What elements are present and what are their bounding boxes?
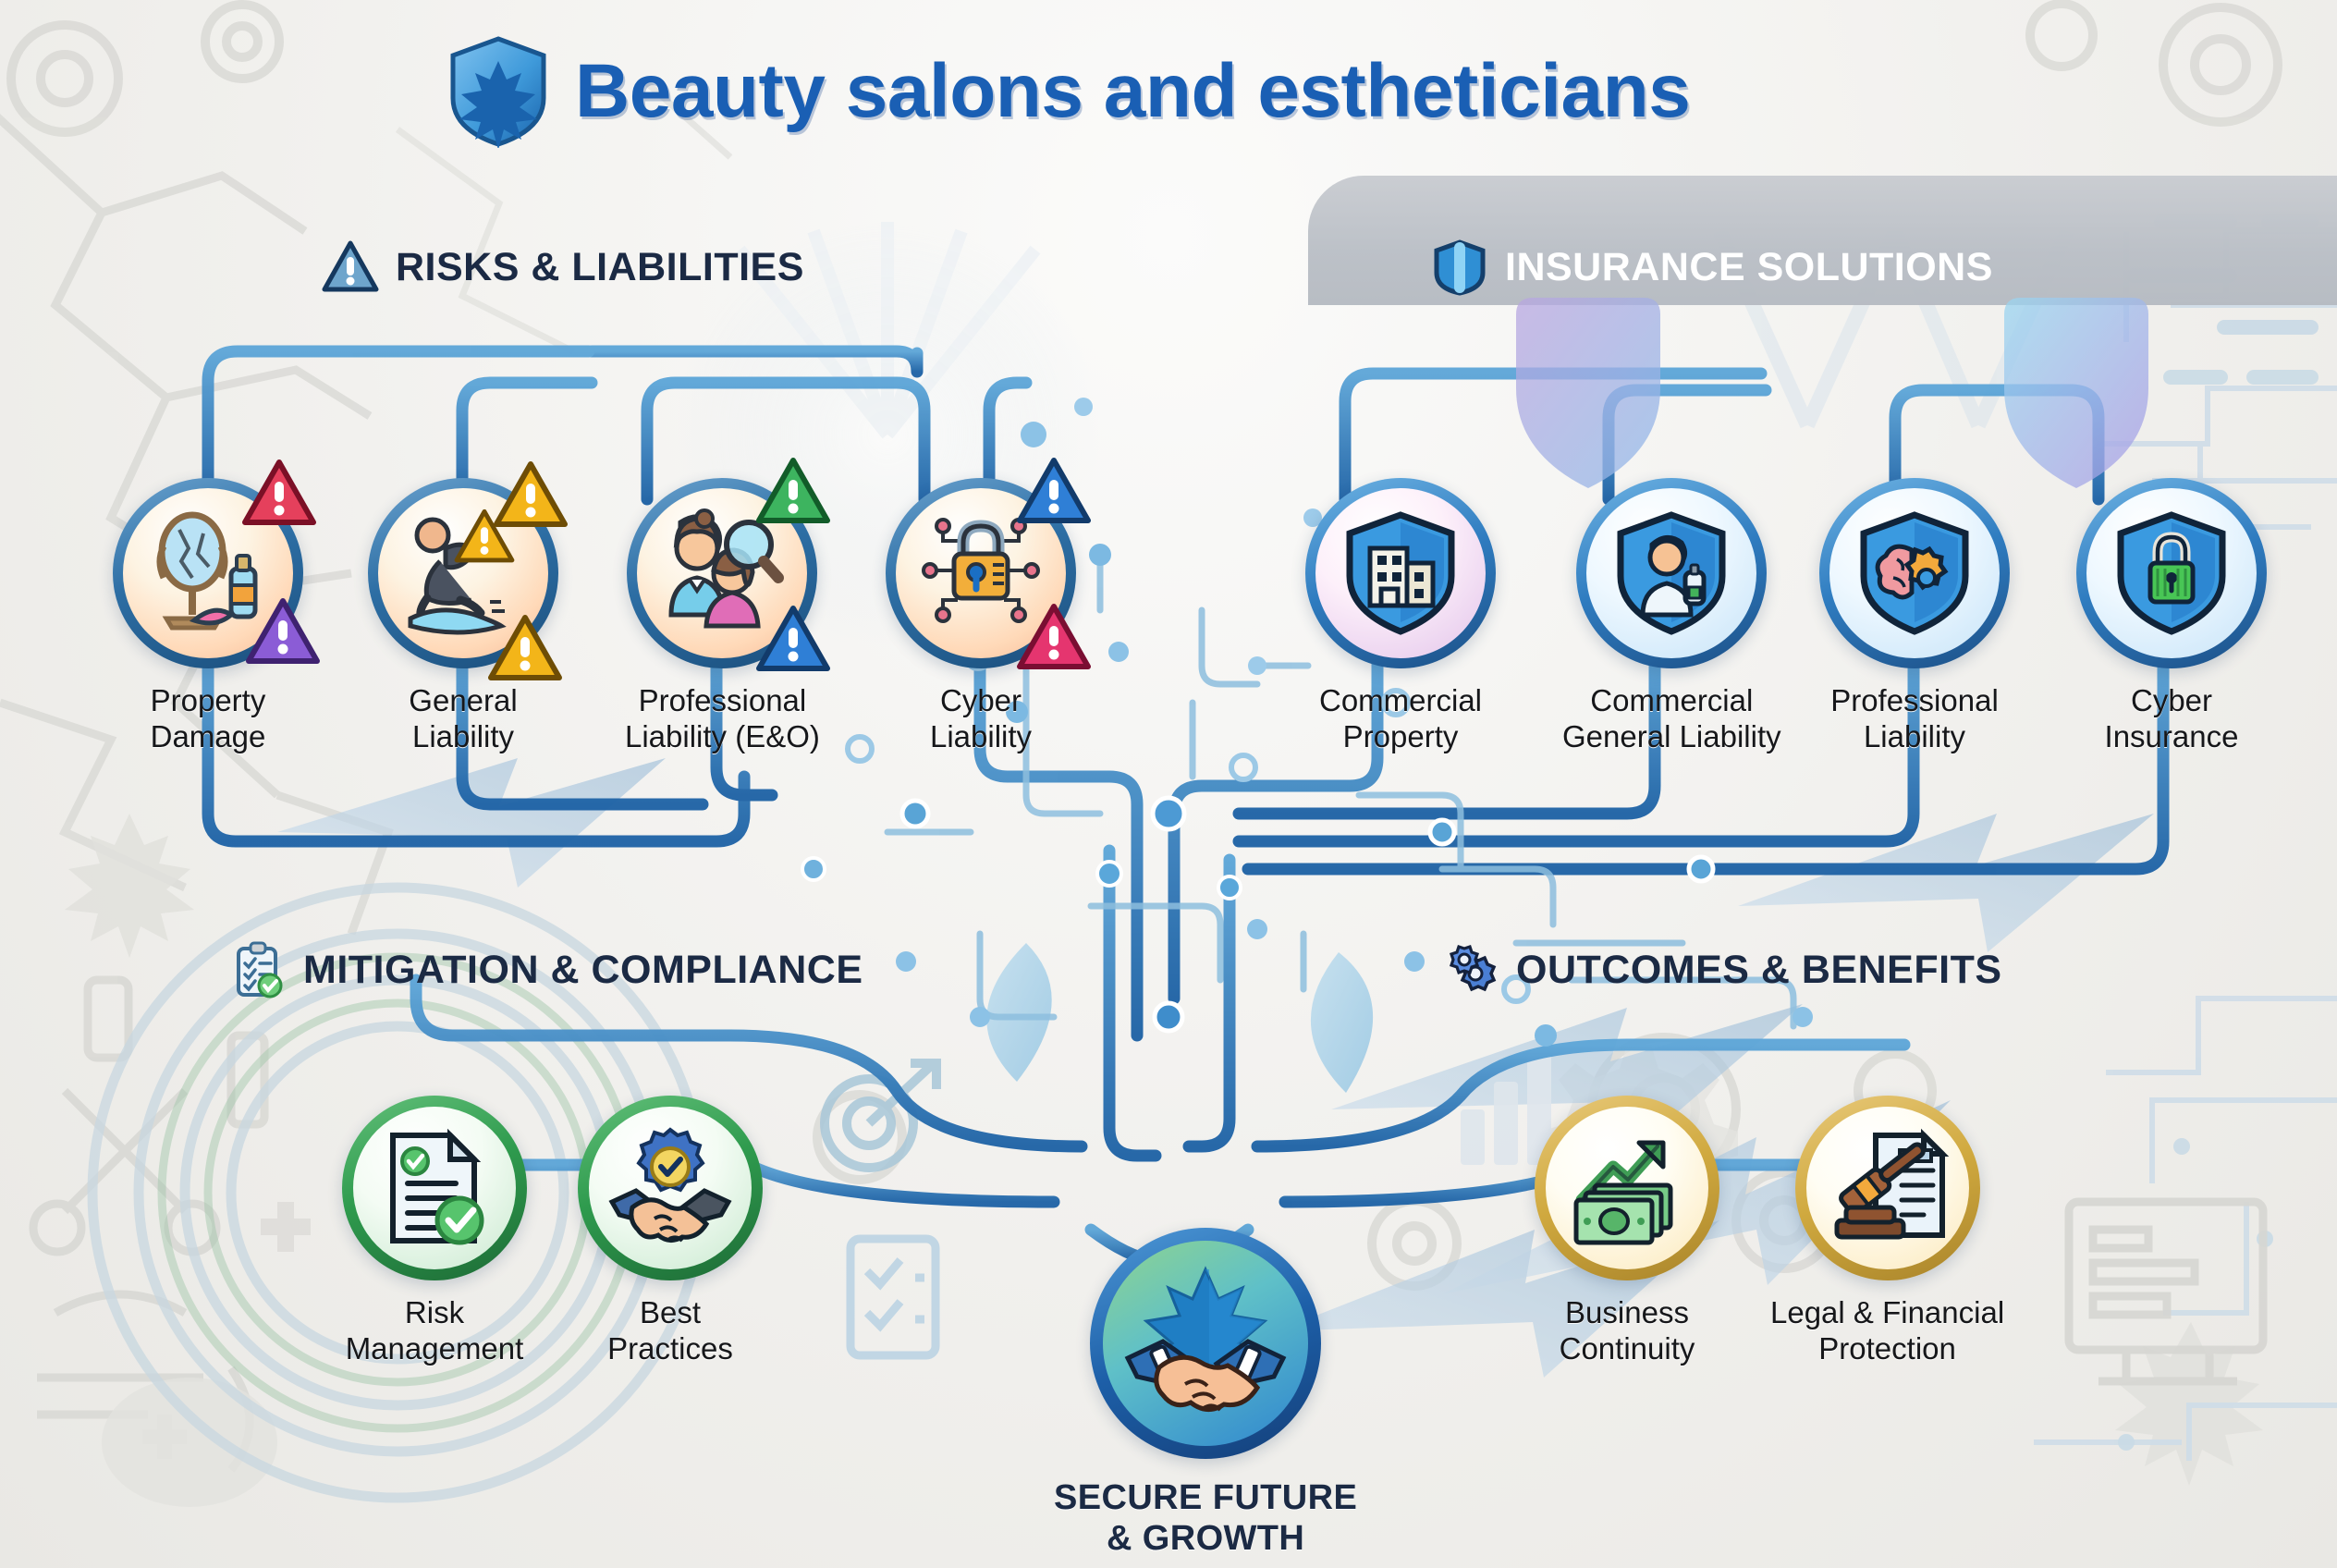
node-label: Best Practices [607, 1295, 733, 1366]
insurance-node-cyber-insurance[interactable]: Cyber Insurance [2076, 478, 2267, 754]
shield-person-icon [1604, 506, 1739, 641]
insurance-node-commercial-property[interactable]: Commercial Property [1305, 478, 1496, 754]
blue-warning-triangle-icon [1015, 456, 1093, 526]
risk-node-cyber-liability[interactable]: Cyber Liability [886, 478, 1076, 754]
risk-node-general-liability[interactable]: General Liability [368, 478, 558, 754]
shield-green-padlock-icon [2104, 506, 2239, 641]
outcome-node-legal-financial-protection[interactable]: Legal & Financial Protection [1770, 1096, 2004, 1366]
risk-node-professional-liability[interactable]: Professional Liability (E&O) [625, 478, 820, 754]
amber-warning-triangle-icon [486, 613, 564, 683]
amber-warning-triangle-icon [453, 508, 516, 565]
shield-icon [1431, 239, 1488, 296]
clipboard-check-icon [229, 941, 287, 998]
hub-node-secure-future-growth[interactable]: SECURE FUTURE & GROWTH [1054, 1228, 1357, 1560]
outcome-node-business-continuity[interactable]: Business Continuity [1535, 1096, 1719, 1366]
purple-warning-triangle-icon [244, 596, 322, 667]
maple-leaf-shield-icon [444, 35, 553, 148]
insurance-node-professional-liability[interactable]: Professional Liability [1819, 478, 2010, 754]
node-label: Business Continuity [1560, 1295, 1695, 1366]
node-ring [1819, 478, 2010, 668]
infographic-canvas: Beauty salons and estheticians RISKS & L… [0, 0, 2337, 1568]
node-ring [1305, 478, 1496, 668]
mitigation-node-best-practices[interactable]: Best Practices [578, 1096, 763, 1366]
mitigation-node-risk-management[interactable]: Risk Management [342, 1096, 527, 1366]
insurance-node-commercial-general-liability[interactable]: Commercial General Liability [1562, 478, 1781, 754]
section-heading-insurance: INSURANCE SOLUTIONS [1431, 239, 1993, 296]
node-label: Professional Liability [1830, 683, 1999, 754]
node-label: General Liability [409, 683, 517, 754]
node-ring [1090, 1228, 1321, 1459]
pink-warning-triangle-icon [1015, 602, 1093, 672]
document-check-icon [369, 1122, 500, 1254]
red-warning-triangle-icon [240, 458, 318, 528]
section-heading-outcomes: OUTCOMES & BENEFITS [1442, 941, 2002, 998]
maple-leaf-handshake-icon [1115, 1253, 1296, 1434]
node-ring [1795, 1096, 1980, 1280]
node-label: Property Damage [151, 683, 266, 754]
shield-brain-gear-icon [1847, 506, 1982, 641]
green-warning-triangle-icon [754, 456, 832, 526]
section-title-outcomes: OUTCOMES & BENEFITS [1516, 948, 2002, 993]
section-heading-risks: RISKS & LIABILITIES [322, 239, 804, 296]
node-label: Legal & Financial Protection [1770, 1295, 2004, 1366]
node-label: Commercial General Liability [1562, 683, 1781, 754]
blue-warning-triangle-icon [754, 604, 832, 674]
node-ring [1576, 478, 1767, 668]
hub-label: SECURE FUTURE & GROWTH [1054, 1477, 1357, 1560]
handshake-badge-icon [605, 1122, 736, 1254]
node-label: Risk Management [346, 1295, 524, 1366]
section-title-risks: RISKS & LIABILITIES [396, 245, 804, 290]
node-label: Cyber Insurance [2105, 683, 2239, 754]
section-title-insurance: INSURANCE SOLUTIONS [1505, 245, 1993, 290]
shield-building-icon [1333, 506, 1468, 641]
page-title: Beauty salons and estheticians [444, 35, 1690, 148]
node-ring [342, 1096, 527, 1280]
node-ring [2076, 478, 2267, 668]
gavel-document-icon [1822, 1122, 1953, 1254]
money-growth-arrow-icon [1561, 1122, 1693, 1254]
gears-icon [1442, 941, 1499, 998]
section-heading-mitigation: MITIGATION & COMPLIANCE [229, 941, 863, 998]
node-ring [1535, 1096, 1719, 1280]
warning-triangle-icon [322, 239, 379, 296]
title-text: Beauty salons and estheticians [575, 48, 1690, 135]
node-ring [578, 1096, 763, 1280]
node-label: Cyber Liability [930, 683, 1032, 754]
section-title-mitigation: MITIGATION & COMPLIANCE [303, 948, 863, 993]
node-label: Commercial Property [1319, 683, 1482, 754]
node-label: Professional Liability (E&O) [625, 683, 820, 754]
risk-node-property-damage[interactable]: Property Damage [113, 478, 303, 754]
